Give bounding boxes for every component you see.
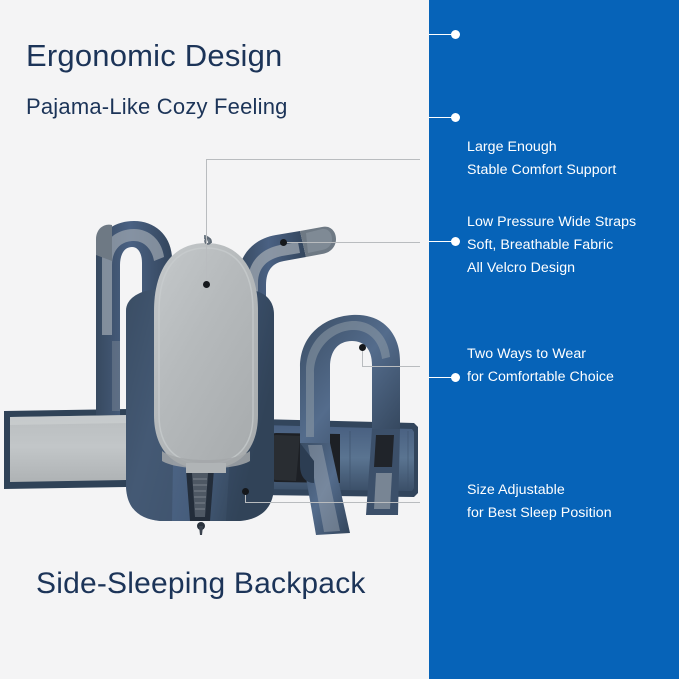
page-subtitle: Pajama-Like Cozy Feeling: [26, 94, 288, 120]
connector-4-horizontal: [245, 502, 430, 503]
bullet-dot-straps: [451, 113, 460, 122]
product-name-title: Side-Sleeping Backpack: [36, 567, 366, 601]
bullet-dot-size: [451, 373, 460, 382]
bullet-dot-support: [451, 30, 460, 39]
anchor-dot-support: [203, 281, 210, 288]
callout-size: Size Adjustable for Best Sleep Position: [467, 479, 612, 525]
callout-straps: Low Pressure Wide Straps Soft, Breathabl…: [467, 211, 636, 280]
callout-straps-line-2: Soft, Breathable Fabric: [467, 234, 636, 257]
connector-2-horizontal: [283, 242, 430, 243]
callout-support-line-2: Stable Comfort Support: [467, 159, 616, 182]
anchor-dot-wear: [359, 344, 366, 351]
bullet-dot-wear: [451, 237, 460, 246]
page-title: Ergonomic Design: [26, 38, 282, 74]
panel-gutter: [420, 0, 429, 679]
connector-1-horizontal: [206, 159, 430, 160]
callout-size-line-2: for Best Sleep Position: [467, 502, 612, 525]
callout-straps-line-1: Low Pressure Wide Straps: [467, 211, 636, 234]
product-image: [0, 215, 429, 545]
connector-1-vertical: [206, 159, 207, 284]
callout-support: Large Enough Stable Comfort Support: [467, 136, 616, 182]
anchor-dot-straps: [280, 239, 287, 246]
callout-wear-line-1: Two Ways to Wear: [467, 343, 614, 366]
callout-wear-line-2: for Comfortable Choice: [467, 366, 614, 389]
callout-straps-line-3: All Velcro Design: [467, 257, 636, 280]
callout-wear: Two Ways to Wear for Comfortable Choice: [467, 343, 614, 389]
callout-support-line-1: Large Enough: [467, 136, 616, 159]
callout-size-line-1: Size Adjustable: [467, 479, 612, 502]
infographic-canvas: Large Enough Stable Comfort Support Low …: [0, 0, 679, 679]
features-panel: Large Enough Stable Comfort Support Low …: [429, 0, 679, 679]
anchor-dot-size: [242, 488, 249, 495]
